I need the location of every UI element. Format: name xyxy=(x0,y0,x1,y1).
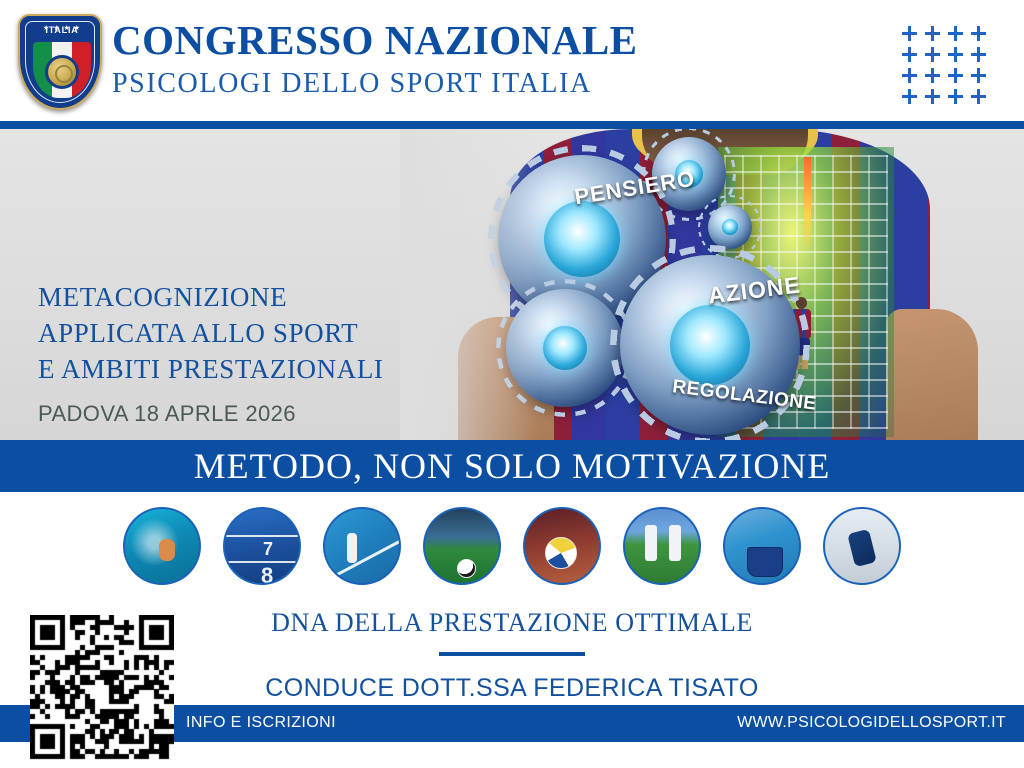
slogan-text: METODO, NON SOLO MOTIVAZIONE xyxy=(194,445,831,487)
qr-code[interactable] xyxy=(30,615,174,761)
sport-circle-rugby xyxy=(623,507,701,585)
athlete-photo: PENSIERO AZIONE REGOLAZIONE xyxy=(400,129,1024,440)
gear-hub xyxy=(543,326,587,370)
page-title: CONGRESSO NAZIONALE xyxy=(112,16,638,64)
headline-line-3: E AMBITI PRESTAZIONALI xyxy=(38,351,408,387)
plus-grid-decoration xyxy=(902,24,994,108)
section-divider xyxy=(439,652,585,656)
plus-icon xyxy=(925,66,948,87)
header-divider xyxy=(0,121,1024,129)
qr-code-canvas[interactable] xyxy=(30,615,174,761)
shield-outline: ★ ★ ★ ★ ITALIA xyxy=(18,14,102,110)
plus-icon xyxy=(902,66,925,87)
gear-hub xyxy=(722,219,738,235)
plus-icon xyxy=(948,87,971,108)
sport-circle-volleyball xyxy=(523,507,601,585)
plus-icon xyxy=(971,24,994,45)
sport-circle-soccer xyxy=(423,507,501,585)
plus-icon xyxy=(971,45,994,66)
shield-country-label: ITALIA xyxy=(20,25,104,35)
feature-band: PENSIERO AZIONE REGOLAZIONE METACOGNIZIO… xyxy=(0,129,1024,440)
event-info-column: METACOGNIZIONE APPLICATA ALLO SPORT E AM… xyxy=(38,279,408,440)
headline-line-1: METACOGNIZIONE xyxy=(38,279,408,315)
gear-tiny xyxy=(708,205,752,249)
page-subtitle: PSICOLOGI DELLO SPORT ITALIA xyxy=(112,66,638,102)
photo-fade-overlay xyxy=(400,129,540,440)
header-title-block: CONGRESSO NAZIONALE PSICOLOGI DELLO SPOR… xyxy=(112,16,638,102)
plus-icon xyxy=(925,24,948,45)
plus-icon xyxy=(948,45,971,66)
sport-circle-skiing xyxy=(823,507,901,585)
sport-icon-row: 78 xyxy=(0,505,1024,587)
plus-icon xyxy=(971,66,994,87)
sport-circle-swimming xyxy=(123,507,201,585)
plus-icon xyxy=(948,24,971,45)
poster-header: ★ ★ ★ ★ ITALIA CONGRESSO NAZIONALE PSICO… xyxy=(0,0,1024,121)
conference-poster: PENSIERO AZIONE REGOLAZIONE METACOGNIZIO… xyxy=(0,0,1024,768)
lane-number: 8 xyxy=(261,563,273,585)
plus-icon xyxy=(902,87,925,108)
athlete-right-arm xyxy=(886,309,978,440)
plus-icon xyxy=(948,66,971,87)
headline-line-2: APPLICATA ALLO SPORT xyxy=(38,315,408,351)
gear-hub xyxy=(670,305,750,385)
italia-shield-badge-icon: ★ ★ ★ ★ ITALIA xyxy=(18,14,102,110)
slogan-banner: METODO, NON SOLO MOTIVAZIONE xyxy=(0,440,1024,492)
brain-emblem-icon xyxy=(45,55,79,89)
plus-icon xyxy=(902,45,925,66)
sport-circle-athletics-track: 78 xyxy=(223,507,301,585)
lane-line xyxy=(225,535,299,537)
event-date: PADOVA 18 APRLE 2026 xyxy=(38,401,408,427)
plus-icon xyxy=(971,87,994,108)
gear-hub xyxy=(544,201,620,277)
sport-circle-tennis-ball-basket xyxy=(723,507,801,585)
plus-icon xyxy=(925,45,948,66)
footer-website[interactable]: WWW.PSICOLOGIDELLOSPORT.IT xyxy=(737,714,1006,732)
footer-info-label: INFO E ISCRIZIONI xyxy=(186,714,336,732)
plus-icon xyxy=(925,87,948,108)
sport-circle-tennis xyxy=(323,507,401,585)
plus-icon xyxy=(902,24,925,45)
lane-number: 7 xyxy=(263,539,273,560)
